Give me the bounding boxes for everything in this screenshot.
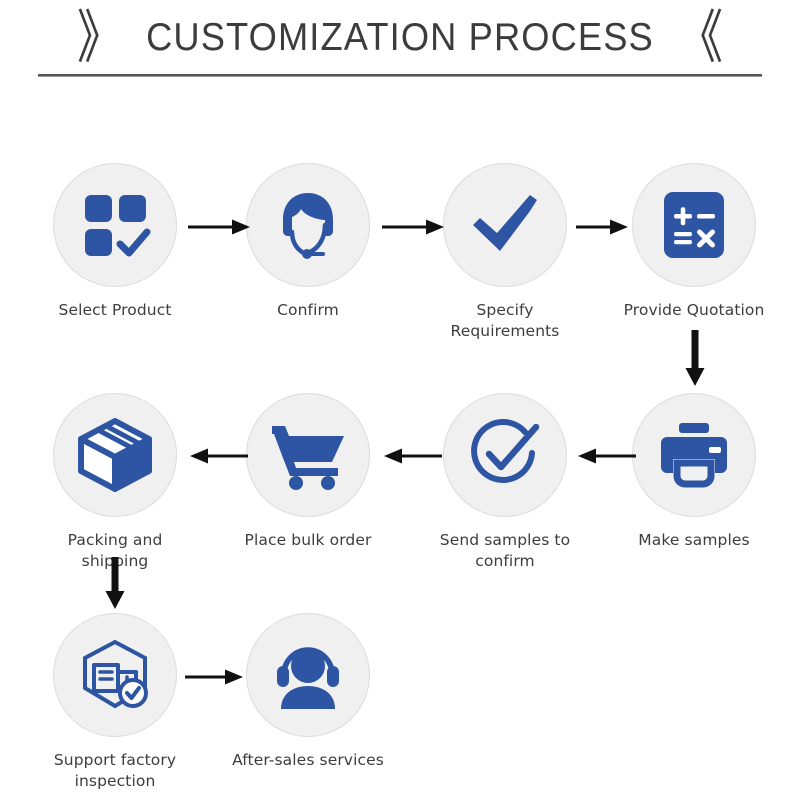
support-agent-icon [271, 641, 345, 709]
step-node-after-sales-services[interactable]: After-sales services [228, 613, 388, 771]
step-node-select-product[interactable]: Select Product [35, 163, 195, 321]
step-label-line2: inspection [75, 772, 156, 790]
step-node-make-samples[interactable]: Make samples [614, 393, 774, 551]
step-label: Send samples to confirm [425, 530, 585, 573]
step-label: Confirm [228, 300, 388, 321]
step-node-provide-quotation[interactable]: Provide Quotation [614, 163, 774, 321]
step-label: After-sales services [228, 750, 388, 771]
arrow-step4-step5 [682, 330, 710, 386]
step-node-packing-and-shipping[interactable]: Packing and shipping [35, 393, 195, 573]
step-icon-circle [632, 163, 756, 287]
step-label: Specify Requirements [425, 300, 585, 343]
step-icon-circle [443, 393, 567, 517]
step-node-place-bulk-order[interactable]: Place bulk order [228, 393, 388, 551]
step-node-support-factory-inspection[interactable]: Support factory inspection [35, 613, 195, 793]
grid-check-icon [79, 189, 151, 261]
arrow-step2-step3 [382, 213, 444, 241]
arrow-step3-step4 [576, 213, 628, 241]
arrow-step1-step2 [188, 213, 250, 241]
step-icon-circle [443, 163, 567, 287]
step-icon-circle [53, 393, 177, 517]
calculator-icon [660, 189, 728, 261]
step-label-line1: Support factory [54, 751, 176, 769]
step-node-specify-requirements[interactable]: Specify Requirements [425, 163, 585, 343]
step-label: Support factory inspection [35, 750, 195, 793]
arrow-step8-step9 [102, 557, 130, 609]
factory-inspection-shield-icon [77, 639, 153, 711]
process-flow-diagram: Select Product Confirm Specify Requireme… [0, 0, 800, 800]
step-icon-circle [246, 163, 370, 287]
step-node-send-samples-to-confirm[interactable]: Send samples to confirm [425, 393, 585, 573]
step-label: Make samples [614, 530, 774, 551]
step-icon-circle [53, 613, 177, 737]
step-label: Place bulk order [228, 530, 388, 551]
check-circle-icon [468, 418, 542, 492]
step-icon-circle [246, 613, 370, 737]
check-mark-icon [467, 189, 543, 261]
arrow-step6-step7 [384, 442, 442, 470]
step-icon-circle [246, 393, 370, 517]
arrow-step9-step10 [185, 663, 243, 691]
step-node-confirm[interactable]: Confirm [228, 163, 388, 321]
headset-operator-icon [270, 187, 346, 263]
printer-icon [657, 420, 731, 490]
shopping-cart-icon [270, 420, 346, 490]
step-label: Provide Quotation [614, 300, 774, 321]
step-icon-circle [632, 393, 756, 517]
step-label: Select Product [35, 300, 195, 321]
step-icon-circle [53, 163, 177, 287]
package-box-icon [78, 418, 152, 492]
arrow-step5-step6 [578, 442, 636, 470]
arrow-step7-step8 [190, 442, 248, 470]
